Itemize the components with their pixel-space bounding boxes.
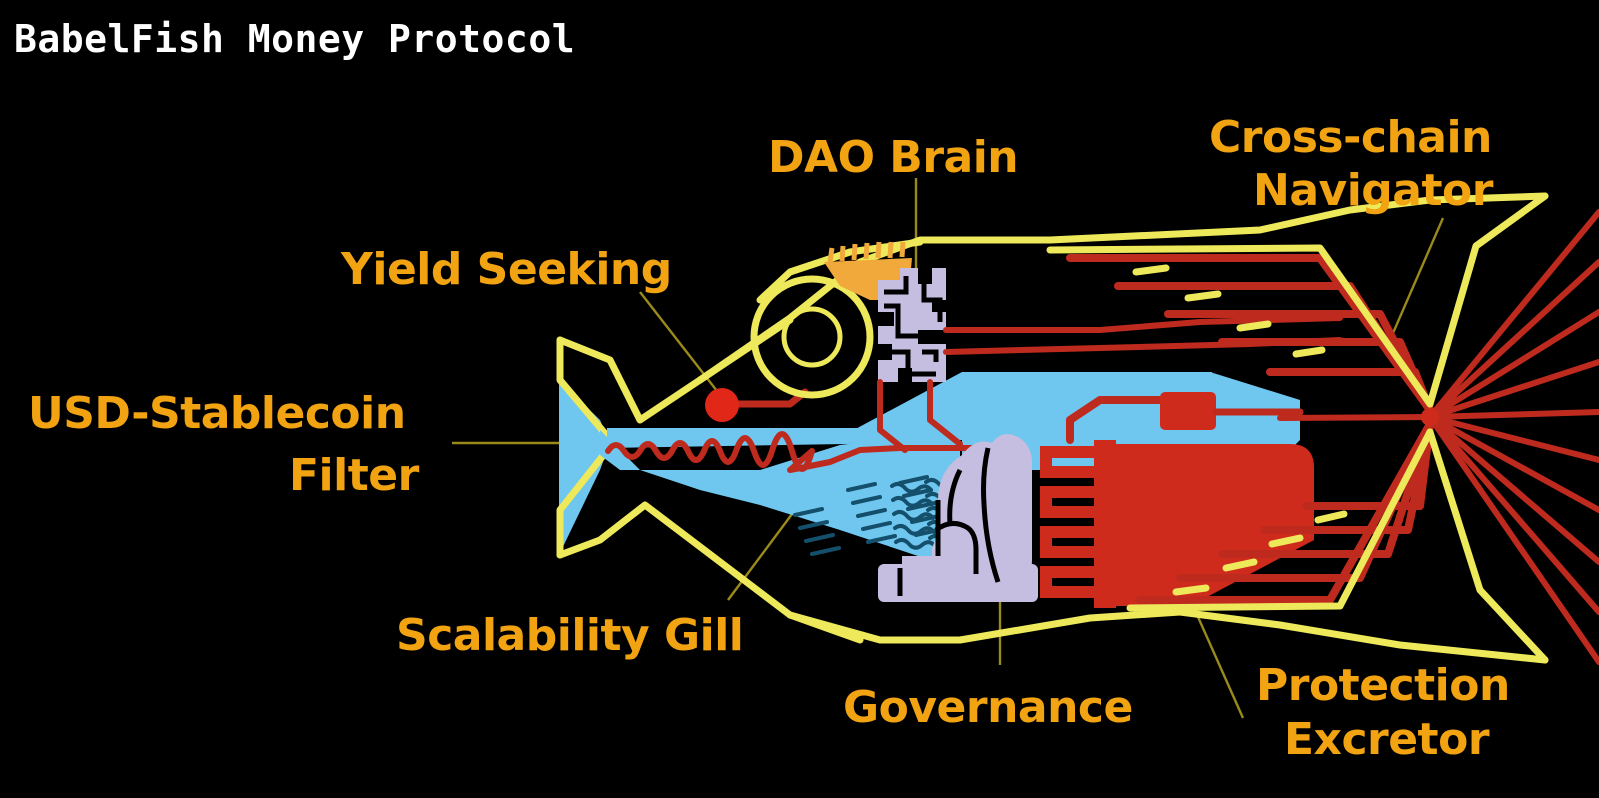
label-usd-stablecoin: USD-Stablecoin Filter	[28, 388, 420, 501]
label-yield-seeking: Yield Seeking	[340, 244, 672, 295]
leader-yield-seeking	[640, 292, 724, 400]
comb-teeth	[1046, 452, 1100, 592]
label-protection: Protection Excretor	[1256, 660, 1510, 765]
label-usd-line1: USD-Stablecoin	[28, 388, 406, 439]
label-dao-brain: DAO Brain	[768, 132, 1018, 183]
label-protection-line1: Protection	[1256, 660, 1510, 711]
label-cross-chain-line1: Cross-chain	[1209, 112, 1492, 163]
convergent-rays	[1280, 212, 1599, 662]
label-governance: Governance	[843, 682, 1133, 733]
fish-anatomy-illustration: DAO Brain Cross-chain Navigator Yield Se…	[0, 0, 1599, 798]
leader-scalability-gill	[728, 510, 795, 600]
label-protection-line2: Excretor	[1284, 714, 1490, 765]
page-title: BabelFish Money Protocol	[14, 17, 575, 61]
leader-cross-chain	[1390, 218, 1443, 340]
diagram-canvas: BabelFish Money Protocol	[0, 0, 1599, 798]
gut-valve	[1160, 392, 1216, 430]
brain-maze-shape	[878, 268, 946, 382]
label-cross-chain-line2: Navigator	[1253, 165, 1494, 216]
body-bottom-line	[790, 612, 1545, 660]
dao-brain-circuit	[878, 268, 946, 382]
ray-convergence-point	[1421, 408, 1439, 426]
label-scalability-gill: Scalability Gill	[396, 610, 743, 661]
vein-upper	[946, 318, 1340, 330]
comb-spine	[1094, 440, 1116, 608]
label-usd-line2: Filter	[289, 450, 420, 501]
eye-inner-ring	[784, 309, 840, 365]
marker-dot	[705, 388, 739, 422]
label-cross-chain: Cross-chain Navigator	[1209, 112, 1494, 216]
